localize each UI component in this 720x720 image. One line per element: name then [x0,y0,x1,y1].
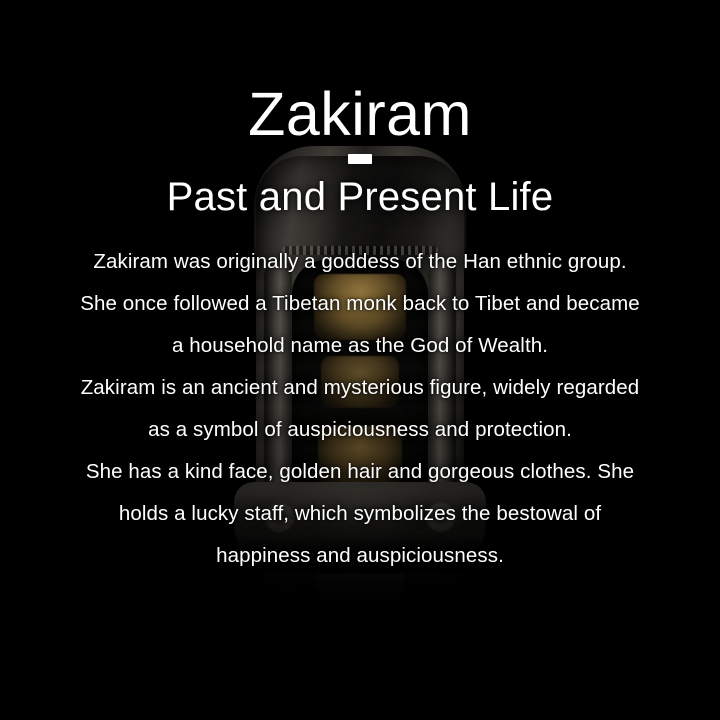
poster-text-content: Zakiram Past and Present Life Zakiram wa… [0,0,720,720]
description-line: a household name as the God of Wealth. [24,325,696,367]
description-line: She once followed a Tibetan monk back to… [24,283,696,325]
description-line: She has a kind face, golden hair and gor… [24,451,696,493]
page-subtitle: Past and Present Life [167,177,554,217]
page-title: Zakiram [248,84,472,145]
description-line: Zakiram was originally a goddess of the … [24,241,696,283]
title-divider-dash [348,154,372,164]
poster-canvas: Zakiram Past and Present Life Zakiram wa… [0,0,720,720]
description-line: as a symbol of auspiciousness and protec… [24,409,696,451]
description-line: Zakiram is an ancient and mysterious fig… [24,367,696,409]
description-line: holds a lucky staff, which symbolizes th… [24,493,696,535]
description-line: happiness and auspiciousness. [24,535,696,577]
description-paragraph: Zakiram was originally a goddess of the … [0,241,720,577]
